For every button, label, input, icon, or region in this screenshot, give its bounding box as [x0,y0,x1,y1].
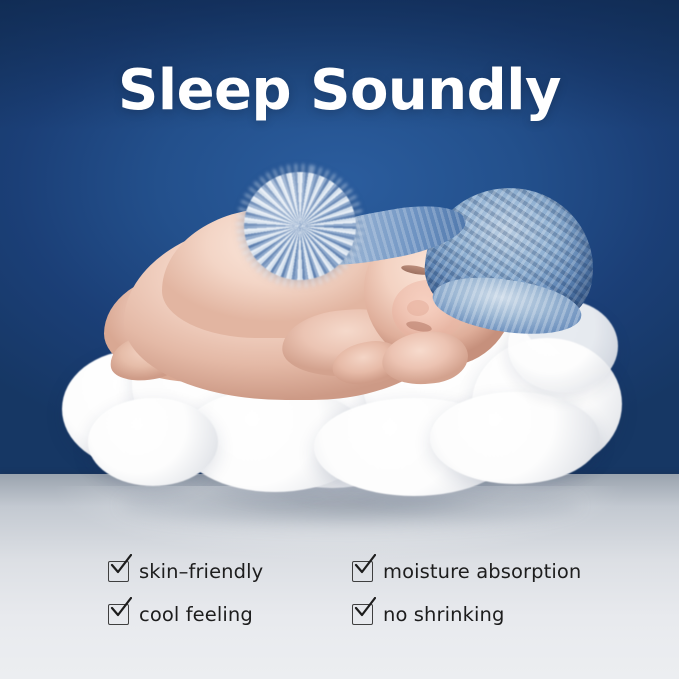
feature-item: skin–friendly [108,560,340,583]
feature-item: moisture absorption [352,560,608,583]
feature-label: moisture absorption [383,560,581,583]
feature-item: cool feeling [108,603,340,626]
page-title: Sleep Soundly [0,62,679,121]
cloud-drop-shadow [120,482,580,528]
feature-item: no shrinking [352,603,608,626]
feature-label: skin–friendly [139,560,263,583]
feature-label: cool feeling [139,603,253,626]
checkbox-checked-icon [108,604,129,625]
product-poster: Sleep Soundly [0,0,679,679]
sleeping-baby [96,160,586,410]
hat-pompom [244,172,356,280]
feature-label: no shrinking [383,603,504,626]
checkbox-checked-icon [108,561,129,582]
checkbox-checked-icon [352,604,373,625]
feature-list: skin–friendly moisture absorption cool f… [108,560,608,626]
baby-nose [407,300,429,316]
checkbox-checked-icon [352,561,373,582]
